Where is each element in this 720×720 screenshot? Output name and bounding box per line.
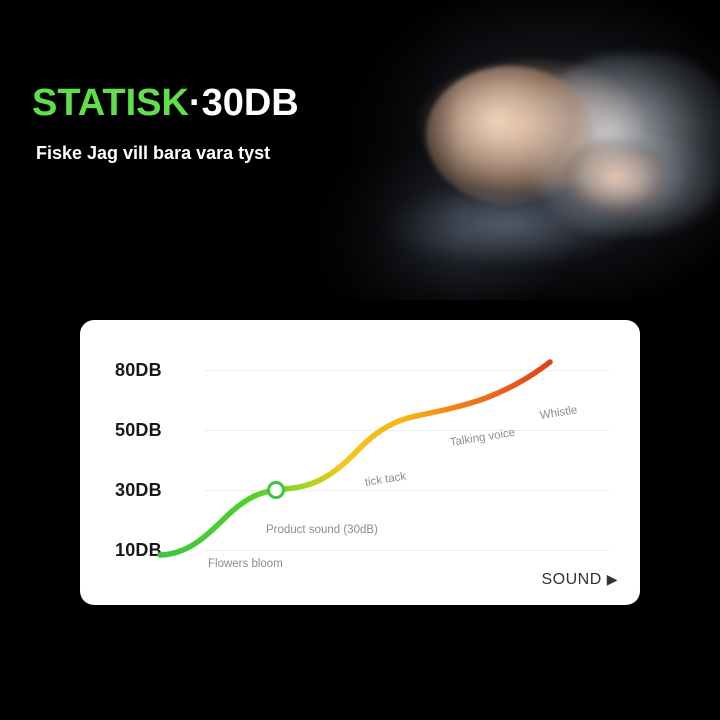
photo-face [426,66,594,204]
chart: 80DB 50DB 30DB 10DB [80,320,640,605]
annotation-flowers-bloom: Flowers bloom [208,558,283,570]
page-title: STATISK·30DB [32,82,299,125]
page-root: STATISK·30DB Fiske Jag vill bara vara ty… [0,0,720,720]
play-triangle-icon: ▶ [607,571,618,587]
sound-axis-label: SOUND ▶ [541,571,618,589]
hero-section: STATISK·30DB Fiske Jag vill bara vara ty… [0,0,720,300]
sound-axis-text: SOUND [541,571,601,588]
sleeping-baby-photo [300,0,720,300]
annotation-product-sound: Product sound (30dB) [266,524,378,536]
sound-chart-card: 80DB 50DB 30DB 10DB [80,320,640,605]
sound-curve [80,320,640,605]
subheadline: Fiske Jag vill bara vara tyst [36,143,270,164]
product-sound-marker [269,483,284,498]
photo-body [531,54,720,234]
headline-spec: ·30DB [189,82,299,124]
headline-brand: STATISK [32,82,189,124]
photo-blanket [334,192,720,300]
photo-arm [560,138,669,216]
